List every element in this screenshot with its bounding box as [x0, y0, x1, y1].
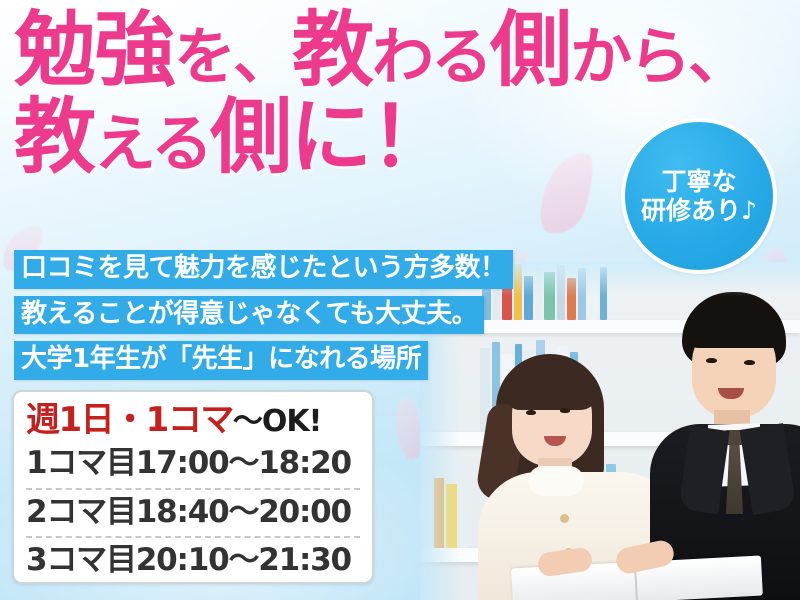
headline-text-waru: わる	[372, 20, 490, 93]
badge-line-1: 丁寧な	[661, 167, 736, 197]
eye	[744, 360, 755, 365]
highlight-bar-row: 教えることが得意じゃなくても大丈夫。	[14, 296, 513, 335]
headline-text-oshi: 教	[292, 3, 372, 98]
schedule-row-2: 2コマ目18:40〜20:00	[26, 488, 360, 533]
eye	[526, 410, 536, 415]
schedule-row-1: 1コマ目17:00〜18:20	[26, 441, 360, 484]
highlight-bar-3: 大学1年生が「先生」になれる場所	[14, 341, 428, 380]
schedule-headline: 週1日・1コマ〜OK!	[26, 398, 360, 440]
badge-line-2: 研修あり♪	[641, 196, 757, 226]
headline-text-oshi-2: 教	[14, 90, 94, 185]
headline-text-ni: に！	[290, 90, 450, 185]
headline-text-wo: を、	[174, 20, 292, 93]
schedule-row-3: 3コマ目20:10〜21:30	[26, 536, 360, 581]
job-ad-banner: 勉強を、教わる側から、 教える側に！ 丁寧な 研修あり♪ 口コミを見て魅力を感じ…	[0, 0, 800, 600]
headline-text-benkyou: 勉強	[14, 3, 174, 98]
bangs	[506, 364, 598, 410]
highlight-bar-row: 口コミを見て魅力を感じたという方多数！	[14, 250, 513, 289]
highlight-bar-2: 教えることが得意じゃなくても大丈夫。	[14, 296, 484, 335]
headline-text-gawa-2: 側	[210, 90, 290, 185]
headline-text-gawa: 側	[490, 3, 570, 98]
headline-line-1: 勉強を、教わる側から、	[14, 12, 794, 91]
highlight-bar-1: 口コミを見て魅力を感じたという方多数！	[14, 250, 513, 289]
highlight-bars: 口コミを見て魅力を感じたという方多数！ 教えることが得意じゃなくても大丈夫。 大…	[14, 250, 513, 387]
turtleneck-collar	[528, 466, 584, 496]
button	[560, 514, 569, 523]
schedule-headline-red: 週1日・1コマ	[26, 400, 233, 440]
male-staff-figure	[656, 292, 800, 600]
eye	[560, 408, 570, 413]
schedule-box: 週1日・1コマ〜OK! 1コマ目17:00〜18:20 2コマ目18:40〜20…	[12, 390, 374, 584]
highlight-bar-row: 大学1年生が「先生」になれる場所	[14, 341, 513, 380]
eye	[706, 358, 717, 363]
headline-text-kara: から、	[570, 20, 747, 93]
headline-text-eru: える	[94, 107, 210, 180]
training-badge: 丁寧な 研修あり♪	[625, 122, 773, 270]
hair-front	[688, 314, 780, 348]
schedule-headline-black: 〜OK!	[233, 404, 321, 439]
